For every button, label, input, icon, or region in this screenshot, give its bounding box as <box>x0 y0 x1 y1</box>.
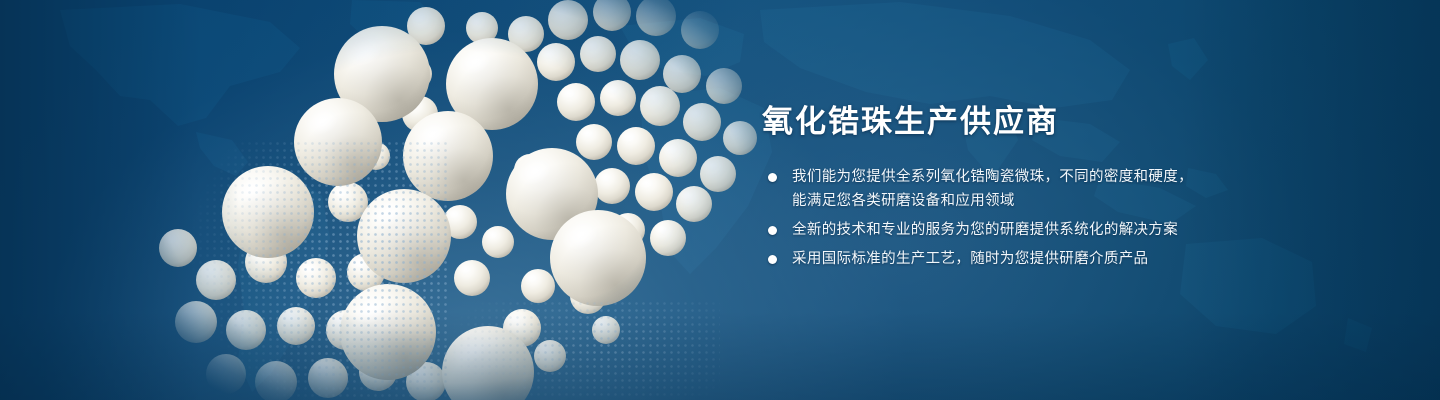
feature-text-line: 能满足您各类研磨设备和应用领域 <box>792 189 1412 213</box>
feature-text-line: 全新的技术和专业的服务为您的研磨提供系统化的解决方案 <box>792 218 1412 242</box>
feature-text-line: 我们能为您提供全系列氧化锆陶瓷微珠，不同的密度和硬度， <box>792 165 1412 189</box>
hero-banner: 氧化锆珠生产供应商 我们能为您提供全系列氧化锆陶瓷微珠，不同的密度和硬度， 能满… <box>0 0 1440 400</box>
feature-list-item: 全新的技术和专业的服务为您的研磨提供系统化的解决方案 <box>762 218 1412 242</box>
bullet-dot-icon <box>768 173 777 182</box>
feature-list-item: 采用国际标准的生产工艺，随时为您提供研磨介质产品 <box>762 247 1412 271</box>
banner-headline: 氧化锆珠生产供应商 <box>762 103 1412 141</box>
banner-copy: 氧化锆珠生产供应商 我们能为您提供全系列氧化锆陶瓷微珠，不同的密度和硬度， 能满… <box>762 103 1412 271</box>
feature-text-line: 采用国际标准的生产工艺，随时为您提供研磨介质产品 <box>792 247 1412 271</box>
zirconia-beads-photo <box>120 0 760 400</box>
feature-list-item: 我们能为您提供全系列氧化锆陶瓷微珠，不同的密度和硬度， 能满足您各类研磨设备和应… <box>762 165 1412 213</box>
feature-list: 我们能为您提供全系列氧化锆陶瓷微珠，不同的密度和硬度， 能满足您各类研磨设备和应… <box>762 165 1412 271</box>
bullet-dot-icon <box>768 226 777 235</box>
bullet-dot-icon <box>768 255 777 264</box>
